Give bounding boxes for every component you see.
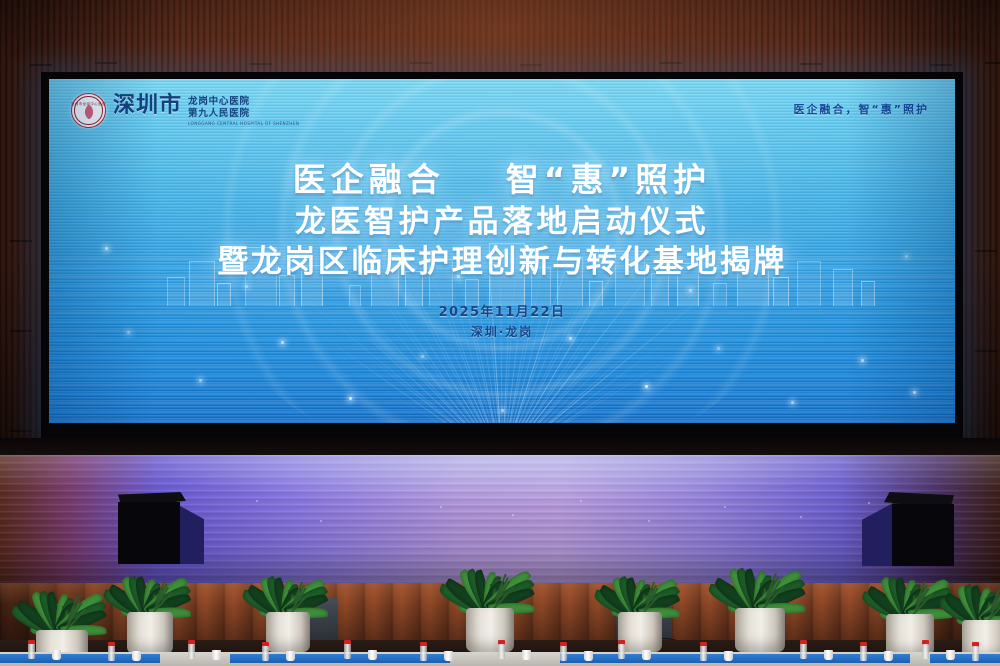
seal-arc-text: 深圳市龙岗中心医院 [71,101,106,106]
water-bottle [28,640,35,660]
hospital-name-english: LONGGANG CENTRAL HOSPITAL OF SHENZHEN [188,121,299,126]
bottle-body [28,644,35,659]
water-bottle [560,642,567,662]
title-line-2: 龙医智护产品落地启动仪式 [49,204,955,241]
paper-cup [824,650,833,660]
hospital-logo-city: 深圳市 [113,95,182,117]
plant-foliage [90,520,210,620]
plant-pot [735,608,785,652]
plant-pot [127,612,173,654]
bottle-body [498,644,505,659]
paper-cup [884,651,893,661]
bottle-body [560,646,567,661]
hospital-logo-names: 龙岗中心医院 第九人民医院 LONGGANG CENTRAL HOSPITAL … [188,95,299,125]
plant-pot [266,612,310,652]
bottle-body [922,644,929,659]
paper-cup [132,651,141,661]
bottle-body [344,644,351,659]
water-bottle [922,640,929,660]
paper-cup [946,650,955,660]
led-screen[interactable]: 深圳市龙岗中心医院 深圳市 龙岗中心医院 第九人民医院 LONGGANG CEN… [49,79,955,423]
plant-foliage [228,520,348,620]
bottle-body [420,646,427,661]
bottle-body [108,646,115,661]
conference-hall-scene: 深圳市龙岗中心医院 深圳市 龙岗中心医院 第九人民医院 LONGGANG CEN… [0,0,1000,666]
hospital-logo-text: 深圳市 龙岗中心医院 第九人民医院 LONGGANG CENTRAL HOSPI… [113,95,299,125]
event-location: 深圳·龙岗 [49,323,955,340]
paper-cup [212,650,221,660]
water-bottle [860,642,867,662]
bottle-body [800,644,807,659]
water-bottle [108,642,115,662]
potted-plant [430,516,550,656]
potted-plant [580,520,700,660]
water-bottle [972,642,979,662]
water-bottle [262,642,269,662]
event-meta-block: 2025年11月22日 深圳·龙岗 [49,301,955,340]
bottle-body [262,646,269,661]
table-runner [560,654,910,663]
bottle-body [972,646,979,661]
paper-cup [286,651,295,661]
plant-foliage [700,516,820,616]
water-bottle [700,642,707,662]
bottle-body [188,644,195,659]
corner-slogan: 医企融合，智“惠”照护 [794,101,929,117]
potted-plant [90,520,210,660]
title-line-3: 暨龙岗区临床护理创新与转化基地揭牌 [49,244,955,281]
plant-pot [466,608,514,652]
water-bottle [420,642,427,662]
bottle-body [618,644,625,659]
bottle-body [860,646,867,661]
table-runner [930,654,1000,663]
plant-foliage [925,528,1000,628]
hospital-seal-icon: 深圳市龙岗中心医院 [71,93,106,128]
paper-cup [368,650,377,660]
event-date: 2025年11月22日 [49,301,955,320]
event-title-block: 医企融合 智“惠”照护 龙医智护产品落地启动仪式 暨龙岗区临床护理创新与转化基地… [49,161,955,281]
bottle-body [700,646,707,661]
paper-cup [724,651,733,661]
title-line-1-left: 医企融合 [293,160,445,199]
water-bottle [800,640,807,660]
hospital-logo: 深圳市龙岗中心医院 深圳市 龙岗中心医院 第九人民医院 LONGGANG CEN… [71,93,299,128]
water-bottle [498,640,505,660]
paper-cup [642,650,651,660]
led-screen-bezel: 深圳市龙岗中心医院 深圳市 龙岗中心医院 第九人民医院 LONGGANG CEN… [41,72,963,438]
hospital-name-line1: 龙岗中心医院 [188,96,299,108]
potted-plant [700,516,820,656]
paper-cup [584,651,593,661]
potted-plant [925,528,1000,666]
title-line-1-right: 智“惠”照护 [506,160,711,199]
paper-cup [444,651,453,661]
plant-foliage [580,520,700,620]
potted-plant [228,520,348,660]
water-bottle [618,640,625,660]
paper-cup [522,650,531,660]
hospital-name-line2: 第九人民医院 [188,108,299,120]
title-line-1: 医企融合 智“惠”照护 [49,161,955,200]
water-bottle [344,640,351,660]
paper-cup [52,650,61,660]
water-bottle [188,640,195,660]
plant-foliage [430,516,550,616]
